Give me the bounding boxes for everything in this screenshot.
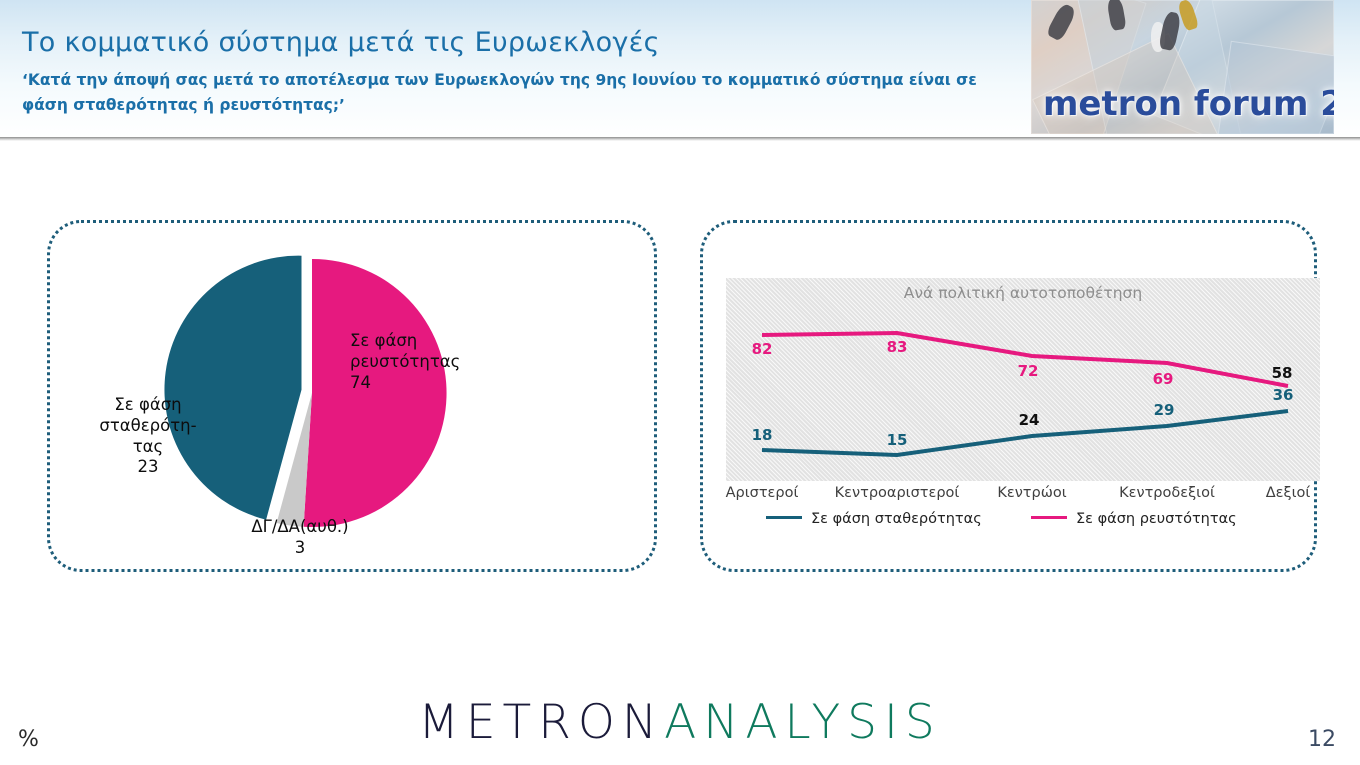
pie-label-stability-line1: Σε φάση bbox=[92, 395, 204, 416]
pie-slice-stability-group bbox=[164, 256, 301, 520]
data-label-stability-4: 36 bbox=[1273, 386, 1294, 404]
pie-label-fluidity: Σε φάση ρευστότητας 74 bbox=[350, 331, 460, 393]
x-axis-label-4: Δεξιοί bbox=[1266, 485, 1311, 501]
legend-label-stability: Σε φάση σταθερότητας bbox=[811, 511, 982, 527]
pie-chart-panel: Σε φάση ρευστότητας 74 Σε φάση σταθερότη… bbox=[47, 220, 657, 572]
percent-unit-note: % bbox=[18, 727, 39, 752]
data-label-fluidity-4: 58 bbox=[1272, 364, 1293, 382]
data-label-stability-1: 15 bbox=[887, 431, 908, 449]
data-label-fluidity-0: 82 bbox=[752, 340, 773, 358]
data-label-fluidity-3: 69 bbox=[1153, 370, 1174, 388]
x-axis-label-3: Κεντροδεξιοί bbox=[1119, 485, 1215, 501]
page-number: 12 bbox=[1308, 727, 1336, 752]
legend-item-stability[interactable]: Σε φάση σταθερότητας bbox=[766, 511, 982, 527]
legend-label-fluidity: Σε φάση ρευστότητας bbox=[1076, 511, 1237, 527]
wordmark-metron: METRON bbox=[418, 695, 664, 750]
pie-label-dontknow: ΔΓ/ΔΑ(αυθ.) 3 bbox=[210, 517, 390, 559]
page-title: Το κομματικό σύστημα μετά τις Ευρωεκλογέ… bbox=[22, 27, 660, 58]
line-chart-plot-area: Ανά πολιτική αυτοτοποθέτηση 82 83 72 69 … bbox=[726, 278, 1320, 481]
data-label-fluidity-2: 72 bbox=[1018, 362, 1039, 380]
data-label-fluidity-1: 83 bbox=[887, 338, 908, 356]
page-subtitle: ‘Κατά την άποψή σας μετά το αποτέλεσμα τ… bbox=[22, 68, 992, 118]
pie-chart: Σε φάση ρευστότητας 74 Σε φάση σταθερότη… bbox=[50, 223, 660, 575]
pie-label-stability: Σε φάση σταθερότη- τας 23 bbox=[92, 395, 204, 478]
wordmark-analysis: ANALYSIS bbox=[664, 695, 942, 750]
legend-item-fluidity[interactable]: Σε φάση ρευστότητας bbox=[1031, 511, 1237, 527]
line-chart-panel: Ανά πολιτική αυτοτοποθέτηση 82 83 72 69 … bbox=[700, 220, 1317, 572]
pie-label-dontknow-value: 3 bbox=[210, 538, 390, 559]
legend-swatch-fluidity-icon bbox=[1031, 516, 1067, 519]
data-label-stability-3: 29 bbox=[1154, 401, 1175, 419]
pie-label-fluidity-line2: ρευστότητας bbox=[350, 352, 460, 373]
data-label-stability-2: 24 bbox=[1019, 411, 1040, 429]
pie-label-dontknow-line1: ΔΓ/ΔΑ(αυθ.) bbox=[210, 517, 390, 538]
data-label-stability-0: 18 bbox=[752, 426, 773, 444]
x-axis-label-2: Κεντρώοι bbox=[997, 485, 1066, 501]
pie-label-fluidity-value: 74 bbox=[350, 373, 460, 394]
pie-label-stability-line2: σταθερότη- bbox=[92, 416, 204, 437]
legend-swatch-stability-icon bbox=[766, 516, 802, 519]
x-axis-label-1: Κεντροαριστεροί bbox=[835, 485, 960, 501]
x-axis-label-0: Αριστεροί bbox=[726, 485, 799, 501]
metron-analysis-wordmark: METRONANALYSIS bbox=[0, 695, 1360, 750]
pie-label-stability-value: 23 bbox=[92, 457, 204, 478]
pie-label-fluidity-line1: Σε φάση bbox=[350, 331, 460, 352]
metron-forum-logo: metron forum 2.0 bbox=[1031, 0, 1334, 134]
pie-slice-stability bbox=[164, 256, 301, 520]
header-divider bbox=[0, 137, 1360, 141]
logo-wordmark: metron forum 2.0 bbox=[1043, 84, 1334, 124]
pie-label-stability-line3: τας bbox=[92, 437, 204, 458]
